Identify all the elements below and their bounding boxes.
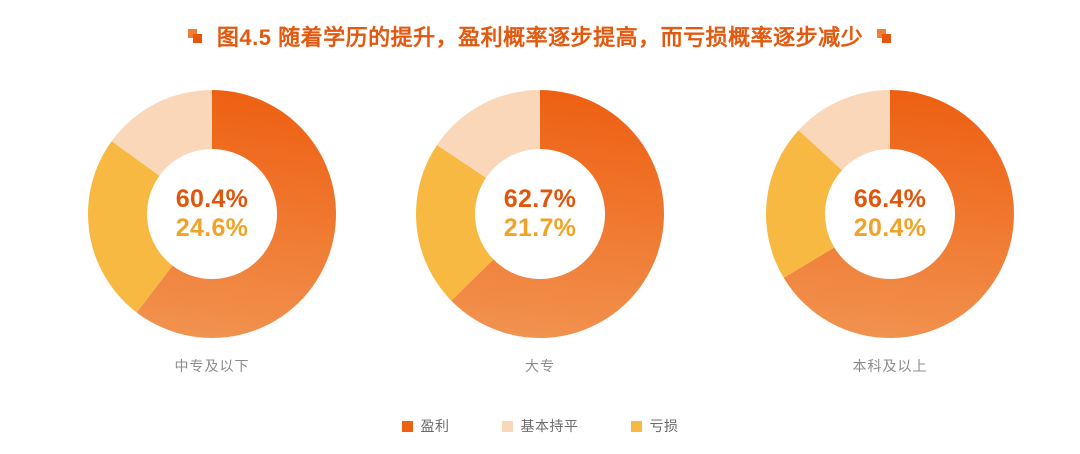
donut-ring: 62.7%21.7% xyxy=(414,88,666,340)
decoration-squares-right-icon xyxy=(877,29,892,44)
page-title: 图4.5 随着学历的提升，盈利概率逐步提高，而亏损概率逐步减少 xyxy=(217,20,863,52)
donut-ring: 60.4%24.6% xyxy=(86,88,338,340)
legend-label: 基本持平 xyxy=(521,416,579,436)
legend-label: 盈利 xyxy=(421,416,450,436)
donut-chart-1: 60.4%24.6%中专及以下 xyxy=(62,88,362,388)
chart-title-row: 图4.5 随着学历的提升，盈利概率逐步提高，而亏损概率逐步减少 xyxy=(0,20,1080,52)
legend-swatch-icon xyxy=(402,421,413,432)
legend-item-1[interactable]: 盈利 xyxy=(402,416,450,436)
donut-charts-group: 60.4%24.6%中专及以下62.7%21.7%大专66.4%20.4%本科及… xyxy=(0,88,1080,388)
legend-swatch-icon xyxy=(631,421,642,432)
category-label: 中专及以下 xyxy=(62,356,362,376)
chart-legend: 盈利基本持平亏损 xyxy=(0,416,1080,436)
donut-ring: 66.4%20.4% xyxy=(764,88,1016,340)
donut-chart-3: 66.4%20.4%本科及以上 xyxy=(740,88,1040,388)
legend-swatch-icon xyxy=(502,421,513,432)
legend-item-2[interactable]: 基本持平 xyxy=(502,416,579,436)
legend-label: 亏损 xyxy=(650,416,679,436)
category-label: 本科及以上 xyxy=(740,356,1040,376)
legend-item-3[interactable]: 亏损 xyxy=(631,416,679,436)
donut-chart-2: 62.7%21.7%大专 xyxy=(390,88,690,388)
category-label: 大专 xyxy=(390,356,690,376)
decoration-squares-left-icon xyxy=(188,29,203,44)
